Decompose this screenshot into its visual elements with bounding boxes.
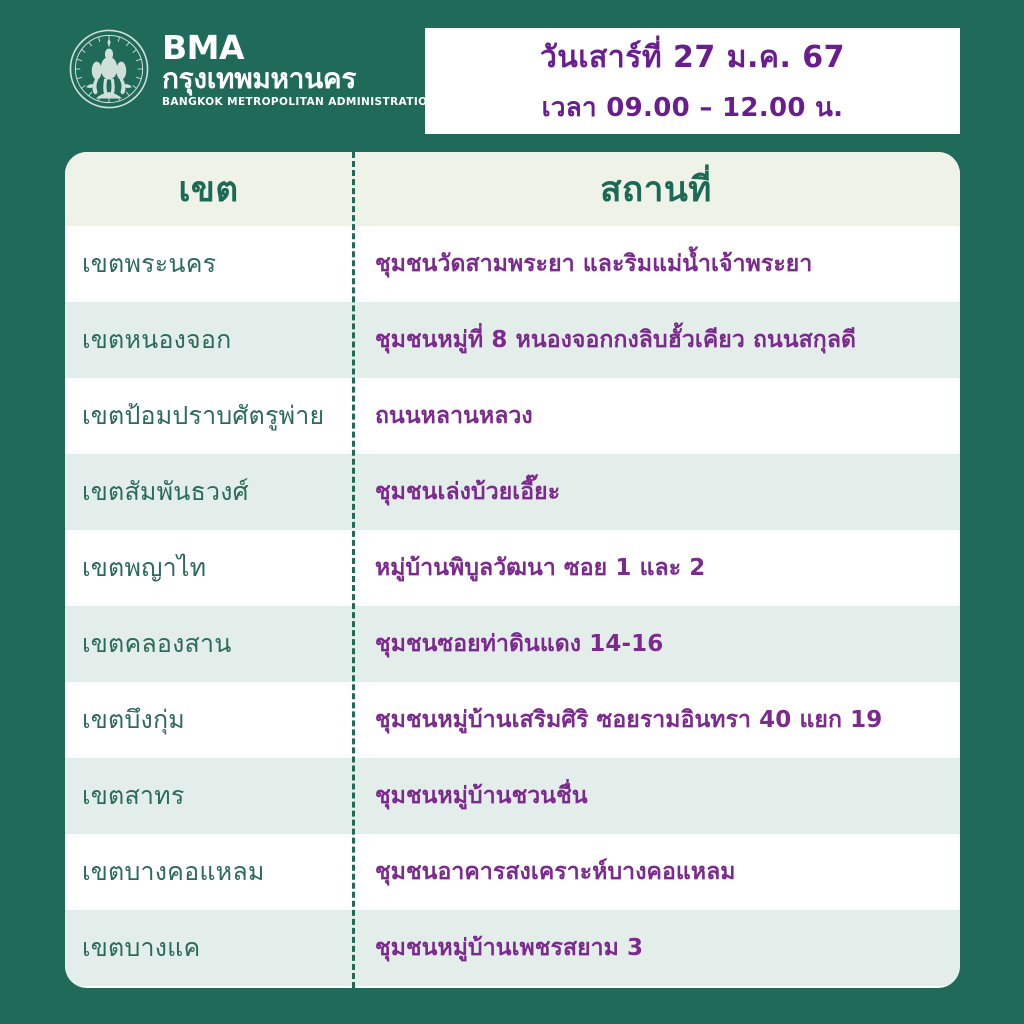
table-row: เขตคลองสาน ชุมชนซอยท่าดินแดง 14-16 xyxy=(65,606,960,682)
district-cell: เขตสาทร xyxy=(65,776,352,816)
place-cell: ชุมชนวัดสามพระยา และริมแม่น้ำเจ้าพระยา xyxy=(352,246,960,282)
place-cell: หมู่บ้านพิบูลวัฒนา ซอย 1 และ 2 xyxy=(352,550,960,586)
place-cell: ชุมชนหมู่บ้านชวนชื่น xyxy=(352,778,960,814)
table-row: เขตป้อมปราบศัตรูพ่าย ถนนหลานหลวง xyxy=(65,378,960,454)
brand-name-thai: กรุงเทพมหานคร xyxy=(162,64,437,94)
place-cell: ชุมชนเล่งบ้วยเอี๊ยะ xyxy=(352,474,960,510)
table-body: เขตพระนคร ชุมชนวัดสามพระยา และริมแม่น้ำเ… xyxy=(65,226,960,986)
table-row: เขตหนองจอก ชุมชนหมู่ที่ 8 หนองจอกกงลิบฮั… xyxy=(65,302,960,378)
table-header-place-label: สถานที่ xyxy=(600,170,712,210)
district-cell: เขตพญาไท xyxy=(65,548,352,588)
event-time-text: เวลา 09.00 – 12.00 น. xyxy=(542,87,844,128)
table-row: เขตสัมพันธวงศ์ ชุมชนเล่งบ้วยเอี๊ยะ xyxy=(65,454,960,530)
bma-seal-icon xyxy=(68,28,150,110)
district-cell: เขตคลองสาน xyxy=(65,624,352,664)
table-header-district-label: เขต xyxy=(178,170,238,210)
bma-brand-lockup: BMA กรุงเทพมหานคร BANGKOK METROPOLITAN A… xyxy=(68,28,437,110)
table-row: เขตสาทร ชุมชนหมู่บ้านชวนชื่น xyxy=(65,758,960,834)
district-cell: เขตบางแค xyxy=(65,928,352,968)
table-header-place-cell: สถานที่ xyxy=(352,162,960,217)
event-datetime-box: วันเสาร์ที่ 27 ม.ค. 67 เวลา 09.00 – 12.0… xyxy=(425,28,960,134)
place-cell: ชุมชนอาคารสงเคราะห์บางคอแหลม xyxy=(352,854,960,890)
table-row: เขตบึงกุ่ม ชุมชนหมู่บ้านเสริมศิริ ซอยราม… xyxy=(65,682,960,758)
place-cell: ถนนหลานหลวง xyxy=(352,398,960,434)
table-row: เขตพระนคร ชุมชนวัดสามพระยา และริมแม่น้ำเ… xyxy=(65,226,960,302)
place-cell: ชุมชนหมู่บ้านเสริมศิริ ซอยรามอินทรา 40 แ… xyxy=(352,702,960,738)
place-cell: ชุมชนหมู่ที่ 8 หนองจอกกงลิบฮั้วเคียว ถนน… xyxy=(352,322,960,358)
place-cell: ชุมชนหมู่บ้านเพชรสยาม 3 xyxy=(352,930,960,966)
table-header-row: เขต สถานที่ xyxy=(65,152,960,226)
brand-text-block: BMA กรุงเทพมหานคร BANGKOK METROPOLITAN A… xyxy=(162,29,437,109)
district-cell: เขตป้อมปราบศัตรูพ่าย xyxy=(65,396,352,436)
table-row: เขตพญาไท หมู่บ้านพิบูลวัฒนา ซอย 1 และ 2 xyxy=(65,530,960,606)
brand-name-english: BANGKOK METROPOLITAN ADMINISTRATION xyxy=(162,96,437,109)
schedule-table-card: เขต สถานที่ เขตพระนคร ชุมชนวัดสามพระยา แ… xyxy=(65,152,960,988)
district-cell: เขตบางคอแหลม xyxy=(65,852,352,892)
district-cell: เขตสัมพันธวงศ์ xyxy=(65,472,352,512)
place-cell: ชุมชนซอยท่าดินแดง 14-16 xyxy=(352,626,960,662)
page-header: BMA กรุงเทพมหานคร BANGKOK METROPOLITAN A… xyxy=(0,0,1024,152)
table-row: เขตบางแค ชุมชนหมู่บ้านเพชรสยาม 3 xyxy=(65,910,960,986)
brand-abbreviation: BMA xyxy=(162,31,437,64)
table-row: เขตบางคอแหลม ชุมชนอาคารสงเคราะห์บางคอแหล… xyxy=(65,834,960,910)
district-cell: เขตบึงกุ่ม xyxy=(65,700,352,740)
table-header-district-cell: เขต xyxy=(65,162,352,217)
district-cell: เขตพระนคร xyxy=(65,244,352,284)
district-cell: เขตหนองจอก xyxy=(65,320,352,360)
event-date-text: วันเสาร์ที่ 27 ม.ค. 67 xyxy=(540,34,845,81)
